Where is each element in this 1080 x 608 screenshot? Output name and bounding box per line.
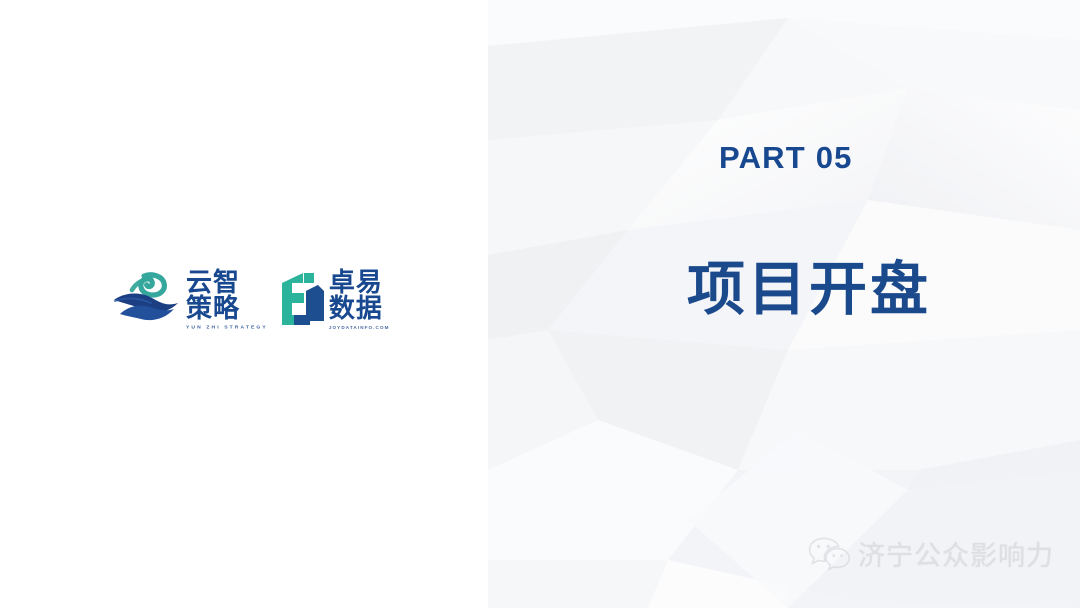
- watermark-text: 济宁公众影响力: [858, 534, 1054, 573]
- part-label: PART 05: [719, 140, 853, 176]
- yun-zhi-cn-line2: 策略: [186, 296, 268, 322]
- watermark: 济宁公众影响力: [808, 534, 1054, 573]
- joy-data-mark-icon: [280, 271, 326, 329]
- logo-joy-data: 卓易 数据 JOYDATAINFO.COM: [280, 270, 390, 330]
- yun-zhi-wordmark: 云智 策略 YUN ZHI STRATEGY: [186, 270, 268, 331]
- joy-data-en-tagline: JOYDATAINFO.COM: [329, 325, 390, 330]
- yun-zhi-en-tagline: YUN ZHI STRATEGY: [186, 325, 268, 331]
- presentation-slide: 云智 策略 YUN ZHI STRATEGY: [0, 0, 1080, 608]
- joy-data-cn-line2: 数据: [329, 296, 390, 322]
- wechat-icon: [808, 536, 850, 572]
- logo-yun-zhi-strategy: 云智 策略 YUN ZHI STRATEGY: [110, 270, 268, 331]
- page-title: 项目开盘: [687, 259, 931, 320]
- right-content-panel: PART 05 项目开盘 济宁公众影响力: [488, 0, 1080, 608]
- yun-zhi-cloud-swoosh-icon: [110, 270, 182, 330]
- left-logo-panel: 云智 策略 YUN ZHI STRATEGY: [0, 0, 488, 608]
- yun-zhi-cn-line1: 云智: [186, 270, 268, 296]
- logo-lockup: 云智 策略 YUN ZHI STRATEGY: [110, 262, 372, 338]
- joy-data-wordmark: 卓易 数据 JOYDATAINFO.COM: [329, 270, 390, 330]
- joy-data-cn-line1: 卓易: [329, 270, 390, 296]
